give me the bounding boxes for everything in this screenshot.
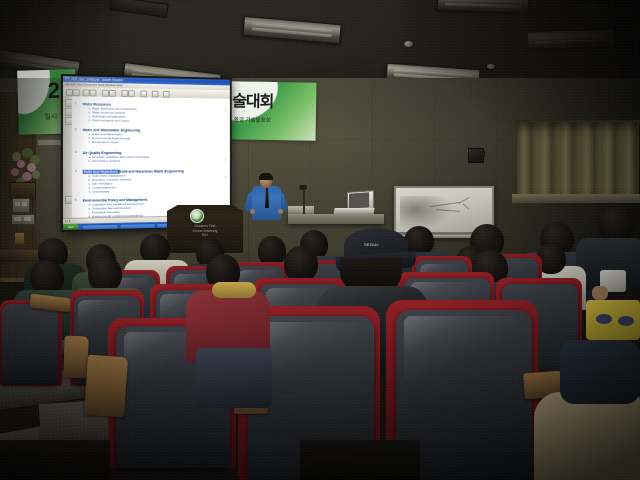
window-sill [512, 194, 640, 203]
audience-collar-strap [212, 282, 256, 298]
audience-head [284, 246, 318, 282]
banner-right: 술대회 환경 기술발표회 [228, 81, 317, 141]
taskbar-item[interactable] [120, 223, 156, 230]
seat-armrest [63, 336, 88, 379]
section-item: d. Flood estimation and control [89, 119, 130, 123]
laptop-screen [349, 192, 369, 208]
box-graphic [596, 314, 612, 324]
presenter-hand [250, 209, 255, 214]
page-marker: 3 [225, 158, 226, 162]
section-heading-rest: Solid and Hazardous Waste Engineering [119, 169, 184, 173]
microphone-head [299, 185, 307, 190]
banner-right-subtitle: 환경 기술발표회 [234, 115, 271, 124]
auditorium-seat[interactable] [2, 304, 58, 384]
page-marker: 2 [225, 137, 226, 141]
audience-jeans [560, 340, 640, 404]
microphone-stand [303, 188, 305, 216]
presenter-hair [259, 173, 273, 180]
window-curtain [517, 122, 639, 194]
whiteboard-shadow [400, 196, 454, 230]
section-item: e. Groundwater [89, 190, 110, 194]
podium-line: Env [172, 233, 238, 238]
audience-hand [592, 286, 608, 300]
foreground-shadow [0, 440, 110, 480]
section-heading: Solid and HazardousSolid and Hazardous W… [83, 169, 184, 173]
foreground-shadow [300, 440, 420, 480]
seat-highlight [404, 316, 516, 382]
seat-armrest [84, 355, 128, 418]
cap-logo-text: SEOUL [364, 242, 379, 247]
section-heading: Water and Wastewater Engineering [83, 128, 141, 132]
box-graphic [618, 316, 634, 326]
audience-head [88, 256, 122, 292]
audience-legs [534, 392, 640, 480]
page-marker: 1 [225, 108, 226, 112]
banner-right-title: 술대회 [232, 87, 274, 112]
institution-emblem-icon [190, 209, 204, 223]
section-item: c. Reclamation / reuse [89, 141, 119, 145]
podium-text: Students First Korea University Env [172, 224, 238, 238]
audience-head [30, 260, 64, 294]
page-marker: 4 [225, 175, 226, 179]
audience-jeans [196, 348, 272, 408]
presenter-table [288, 214, 384, 224]
lecture-hall-photo: 2 일시 술대회 환경 기술발표회 PT_서로_doc_2008.pdf - A… [0, 0, 640, 480]
presenter-hand [278, 209, 283, 214]
audience-head [598, 206, 634, 242]
document-page[interactable]: 1. Water Resources a. Water distribution… [72, 96, 230, 219]
section-item: b. Atmospheric analysis [89, 160, 120, 164]
speaker-bracket [480, 151, 485, 157]
